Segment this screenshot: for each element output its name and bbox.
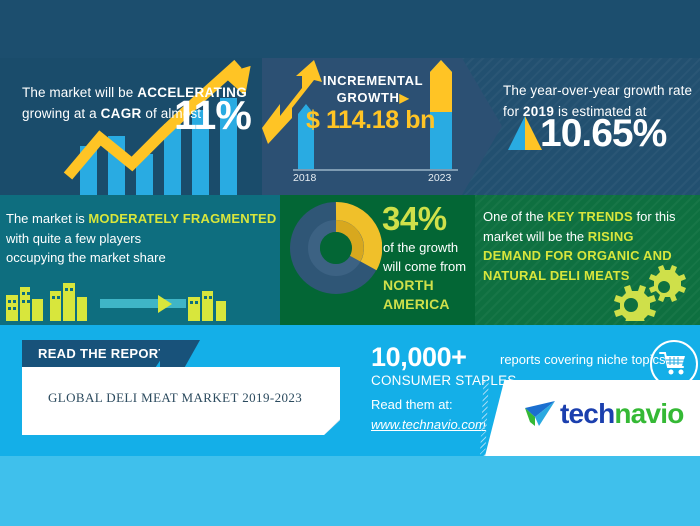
reports-caption: reports covering niche topics	[500, 352, 665, 367]
bottom-strip	[0, 456, 700, 526]
technavio-wordmark: technavio	[560, 398, 684, 430]
gears-icon	[598, 261, 688, 321]
chevron-divider-icon	[462, 58, 502, 195]
yoy-value: 10.65%	[540, 112, 666, 156]
key-trends-prefix: One of the	[483, 209, 547, 224]
region-donut-chart	[290, 202, 382, 294]
incremental-growth-title-line1: INCREMENTAL	[323, 73, 423, 88]
fragmentation-line3: occupying the market share	[6, 250, 166, 265]
read-the-report-label: READ THE REPORT:	[38, 346, 170, 361]
logo-text-tech: tech	[560, 398, 614, 429]
cagr-text-line2-prefix: growing at a	[22, 106, 101, 121]
website-link[interactable]: www.technavio.com	[371, 417, 486, 432]
region-caption-line2: will come from	[383, 259, 466, 274]
cagr-acronym: CAGR	[101, 106, 142, 121]
fragmentation-text: The market is MODERATELY FRAGMENTED with…	[6, 209, 280, 268]
panel-fragmentation: The market is MODERATELY FRAGMENTED with…	[0, 195, 280, 325]
reports-count: 10,000+	[371, 342, 467, 373]
cagr-value: 11%	[174, 92, 251, 139]
key-trends-highlight1: KEY TRENDS	[547, 209, 633, 224]
region-percent: 34%	[382, 200, 447, 238]
region-caption: of the growth will come from NORTH AMERI…	[383, 238, 493, 314]
region-caption-line1: of the growth	[383, 240, 458, 255]
incremental-growth-title-line2: GROWTH	[337, 90, 400, 105]
growth-triangle-icon	[508, 116, 544, 150]
technavio-logo-mark-icon	[523, 400, 557, 428]
incremental-growth-year-end: 2023	[428, 172, 451, 184]
incremental-growth-value: $ 114.18 bn	[278, 106, 463, 135]
read-the-report-tab: READ THE REPORT:	[22, 340, 174, 367]
fragmentation-prefix: The market is	[6, 211, 88, 226]
panel-key-trends: One of the KEY TRENDS for this market wi…	[475, 195, 700, 325]
fragmentation-line2: with quite a few players	[6, 231, 141, 246]
infographic-canvas: The market will be ACCELERATING growing …	[0, 0, 700, 526]
read-them-at-label: Read them at:	[371, 397, 453, 412]
shopping-cart-icon	[652, 342, 692, 382]
report-title: GLOBAL DELI MEAT MARKET 2019-2023	[48, 390, 302, 406]
report-category: CONSUMER STAPLES	[371, 373, 516, 388]
fragmentation-highlight: MODERATELY FRAGMENTED	[88, 211, 276, 226]
logo-text-navio: navio	[614, 398, 683, 429]
shopping-cart-button[interactable]	[650, 340, 698, 388]
incremental-growth-title: INCREMENTAL GROWTH▶	[298, 72, 448, 107]
incremental-growth-year-start: 2018	[293, 172, 316, 184]
play-arrow-icon: ▶	[399, 91, 409, 105]
market-players-illustration	[0, 267, 280, 325]
cagr-text-prefix: The market will be	[22, 85, 137, 100]
region-name: NORTH AMERICA	[383, 277, 450, 312]
yoy-text-line1: The year-over-year growth rate	[503, 83, 692, 98]
incremental-growth-axis	[293, 169, 458, 171]
